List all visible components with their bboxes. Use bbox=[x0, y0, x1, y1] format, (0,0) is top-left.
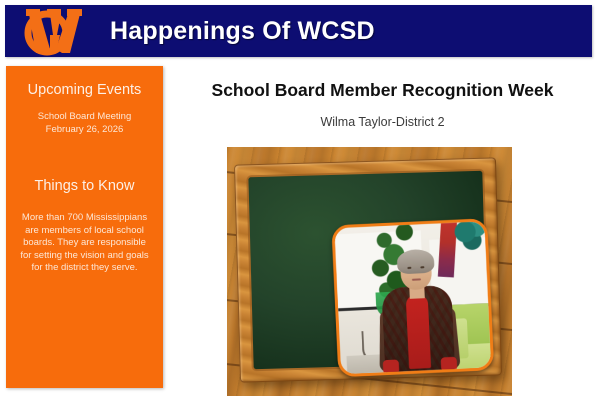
photo-wreath-icon bbox=[450, 218, 488, 253]
photo-person-eye-right bbox=[420, 266, 424, 268]
sidebar-heading-things-to-know: Things to Know bbox=[6, 136, 163, 194]
sidebar-upcoming-events-list: School Board Meeting February 26, 2026 bbox=[6, 98, 163, 136]
sidebar-event-line: February 26, 2026 bbox=[20, 124, 149, 137]
photo-person-cuff-right bbox=[441, 357, 458, 372]
chalkboard-surface-bevel bbox=[248, 171, 487, 369]
sidebar-event-line: School Board Meeting bbox=[20, 111, 149, 124]
portrait-photo bbox=[331, 218, 494, 377]
chalkboard-frame bbox=[234, 157, 502, 382]
sidebar: Upcoming Events School Board Meeting Feb… bbox=[6, 66, 163, 388]
logo-container bbox=[5, 5, 110, 57]
sidebar-things-to-know-body: More than 700 Mississippians are members… bbox=[6, 194, 163, 275]
photo-person-cuff-left bbox=[383, 359, 400, 374]
content-subtitle: Wilma Taylor-District 2 bbox=[170, 101, 595, 129]
page-title: Happenings Of WCSD bbox=[110, 17, 375, 46]
main-content: School Board Member Recognition Week Wil… bbox=[170, 66, 595, 396]
content-title: School Board Member Recognition Week bbox=[170, 66, 595, 101]
wcsd-w-logo-icon bbox=[17, 5, 95, 57]
photo-person-eye-left bbox=[407, 267, 411, 269]
page-header: Happenings Of WCSD bbox=[5, 5, 592, 57]
photo-person-hair bbox=[397, 249, 435, 275]
featured-photo: Portrait of Wilma Taylor framed in a woo… bbox=[227, 147, 512, 396]
sidebar-heading-upcoming-events: Upcoming Events bbox=[6, 66, 163, 98]
photo-person-shirt bbox=[406, 294, 431, 369]
photo-person-mouth bbox=[412, 278, 421, 280]
